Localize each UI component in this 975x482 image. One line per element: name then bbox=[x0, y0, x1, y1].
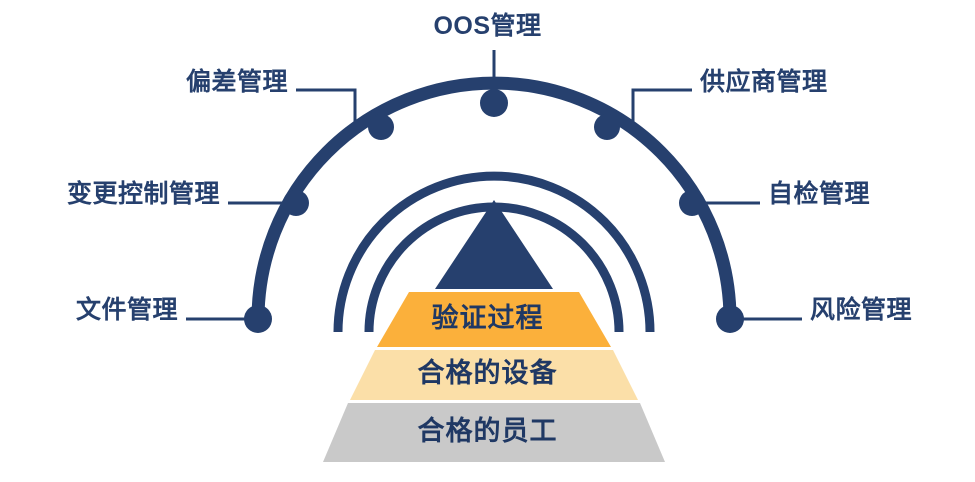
node-dot-supplier[interactable] bbox=[594, 114, 620, 140]
node-dot-change-control[interactable] bbox=[283, 190, 309, 216]
node-dot-oos[interactable] bbox=[480, 89, 508, 117]
label-oos-management[interactable]: OOS管理 bbox=[0, 14, 975, 39]
pyramid-label-qualified-personnel[interactable]: 合格的员工 bbox=[0, 418, 975, 445]
label-supplier-management[interactable]: 供应商管理 bbox=[700, 70, 828, 95]
label-deviation-management[interactable]: 偏差管理 bbox=[0, 70, 288, 95]
node-dot-deviation[interactable] bbox=[368, 114, 394, 140]
label-self-inspection-management[interactable]: 自检管理 bbox=[768, 182, 870, 207]
label-change-control-management[interactable]: 变更控制管理 bbox=[0, 182, 220, 207]
pyramid-label-qualified-equipment[interactable]: 合格的设备 bbox=[0, 360, 975, 387]
node-dot-self-inspection[interactable] bbox=[679, 190, 705, 216]
gmp-quality-system-diagram: 文件管理 变更控制管理 偏差管理 OOS管理 供应商管理 自检管理 风险管理 验… bbox=[0, 0, 975, 482]
pyramid-label-validation-process[interactable]: 验证过程 bbox=[0, 305, 975, 332]
